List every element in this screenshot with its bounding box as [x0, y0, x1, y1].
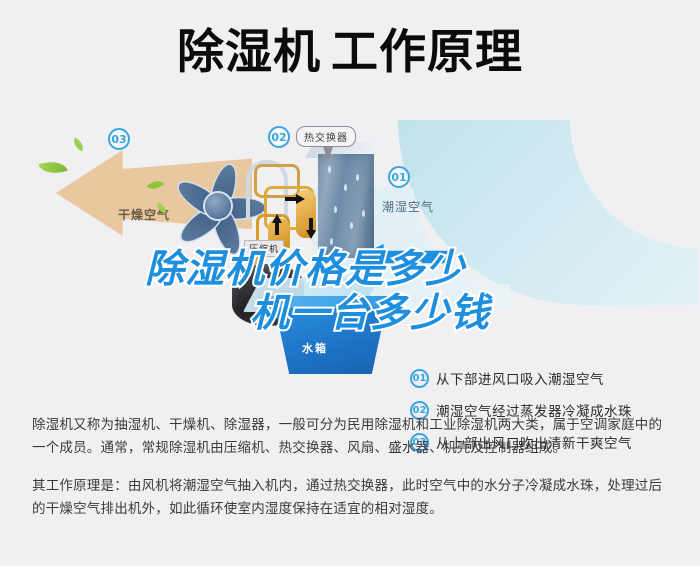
article-body: 除湿机又称为抽湿机、干燥机、除湿器，一般可分为民用除湿机和工业除湿机两大类，属于… — [32, 414, 672, 521]
humid-air-label: 潮湿空气 — [382, 198, 434, 215]
title-part-1: 除湿机 — [177, 28, 321, 77]
title-part-2: 工作原理 — [331, 28, 523, 77]
page-title: 除湿机工作原理 — [0, 28, 700, 77]
heat-exchanger-callout: 热交换器 — [296, 126, 356, 147]
body-paragraph-2: 其工作原理是：由风机将潮湿空气抽入机内，通过热交换器，此时空气中的水分子冷凝成水… — [32, 475, 672, 521]
diagram-badge-02: 02 — [268, 126, 290, 148]
body-paragraph-1: 除湿机又称为抽湿机、干燥机、除湿器，一般可分为民用除湿机和工业除湿机两大类，属于… — [32, 414, 672, 460]
diagram-badge-01: 01 — [388, 166, 410, 188]
legend-text: 从下部进风口吸入潮湿空气 — [436, 368, 604, 388]
diagram-badge-03: 03 — [108, 128, 130, 150]
legend-number: 01 — [410, 369, 429, 388]
compressor-label: 压缩机 — [244, 240, 284, 257]
evaporator-fin-block — [318, 154, 374, 258]
flow-arrow-up — [275, 223, 279, 235]
flow-arrow-down-head — [306, 230, 316, 239]
leaf-icon — [38, 156, 67, 178]
flow-arrow-down — [309, 218, 313, 230]
flow-arrow-right-head — [296, 194, 305, 204]
water-tank-label: 水箱 — [302, 340, 328, 356]
legend-item: 01 从下部进风口吸入潮湿空气 — [410, 368, 695, 388]
leaf-icon — [71, 137, 87, 151]
flow-arrow-up-head — [272, 214, 282, 223]
working-principle-diagram: 干燥空气 压缩机 水箱 — [0, 118, 700, 403]
